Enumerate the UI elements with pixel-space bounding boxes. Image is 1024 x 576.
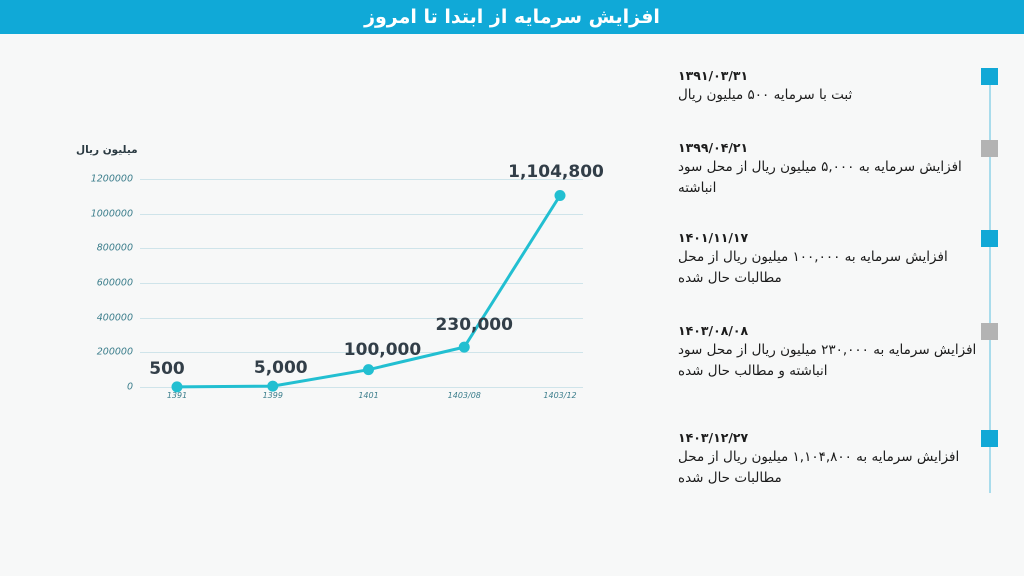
data-point-label: 100,000 xyxy=(344,340,421,360)
x-axis-tick-label: 1399 xyxy=(263,391,283,400)
timeline-marker-inactive-icon xyxy=(981,323,998,340)
timeline-entry-date: ۱۴۰۳/۰۸/۰۸ xyxy=(678,322,978,339)
y-axis-tick-label: 600000 xyxy=(97,278,133,289)
timeline-entry-description: افزایش سرمایه به ۱,۱۰۴,۸۰۰ میلیون ریال ا… xyxy=(678,447,978,489)
data-point-label: 500 xyxy=(149,359,185,379)
timeline-entry[interactable]: ۱۴۰۳/۱۲/۲۷افزایش سرمایه به ۱,۱۰۴,۸۰۰ میل… xyxy=(678,429,978,489)
y-axis-tick-label: 0 xyxy=(127,382,133,393)
data-point-marker[interactable] xyxy=(459,342,470,353)
data-point-marker[interactable] xyxy=(555,190,566,201)
timeline-marker-inactive-icon xyxy=(981,140,998,157)
y-axis-tick-label: 800000 xyxy=(97,243,133,254)
data-point-marker[interactable] xyxy=(363,364,374,375)
timeline-entry[interactable]: ۱۳۹۹/۰۴/۲۱افزایش سرمایه به ۵,۰۰۰ میلیون … xyxy=(678,139,978,199)
timeline-entry-date: ۱۳۹۱/۰۳/۳۱ xyxy=(678,67,978,84)
y-axis-tick-label: 1200000 xyxy=(91,174,133,185)
timeline-entry-description: افزایش سرمایه به ۵,۰۰۰ میلیون ریال از مح… xyxy=(678,157,978,199)
timeline-entry[interactable]: ۱۳۹۱/۰۳/۳۱ثبت با سرمایه ۵۰۰ میلیون ریال xyxy=(678,67,978,106)
chart-y-axis-title: میلیون ریال xyxy=(76,144,138,156)
data-point-label: 1,104,800 xyxy=(508,162,604,182)
data-point-label: 230,000 xyxy=(436,315,513,335)
timeline-marker-active-icon xyxy=(981,430,998,447)
x-axis-tick-label: 1403/12 xyxy=(543,391,576,400)
capital-increase-timeline: ۱۳۹۱/۰۳/۳۱ثبت با سرمایه ۵۰۰ میلیون ریال۱… xyxy=(620,34,1024,576)
timeline-marker-active-icon xyxy=(981,68,998,85)
timeline-entry-description: افزایش سرمایه به ۱۰۰,۰۰۰ میلیون ریال از … xyxy=(678,247,978,289)
timeline-marker-active-icon xyxy=(981,230,998,247)
x-axis-tick-label: 1403/08 xyxy=(448,391,481,400)
timeline-entry-date: ۱۴۰۳/۱۲/۲۷ xyxy=(678,429,978,446)
y-axis-tick-label: 400000 xyxy=(97,312,133,323)
timeline-entry-date: ۱۳۹۹/۰۴/۲۱ xyxy=(678,139,978,156)
data-point-marker[interactable] xyxy=(172,381,183,392)
chart-plot-area: 020000040000060000080000010000001200000 … xyxy=(140,179,583,387)
capital-growth-chart: میلیون ریال 0200000400000600000800000100… xyxy=(0,34,620,576)
timeline-entry-description: ثبت با سرمایه ۵۰۰ میلیون ریال xyxy=(678,85,978,106)
header-bar: افزایش سرمایه از ابتدا تا امروز xyxy=(0,0,1024,34)
timeline-entry-date: ۱۴۰۱/۱۱/۱۷ xyxy=(678,229,978,246)
timeline-entry[interactable]: ۱۴۰۱/۱۱/۱۷افزایش سرمایه به ۱۰۰,۰۰۰ میلیو… xyxy=(678,229,978,289)
y-axis-tick-label: 1000000 xyxy=(91,208,133,219)
x-axis-tick-label: 1401 xyxy=(358,391,378,400)
data-point-marker[interactable] xyxy=(267,381,278,392)
timeline-entry-description: افزایش سرمایه به ۲۳۰,۰۰۰ میلیون ریال از … xyxy=(678,340,978,382)
timeline-entry[interactable]: ۱۴۰۳/۰۸/۰۸افزایش سرمایه به ۲۳۰,۰۰۰ میلیو… xyxy=(678,322,978,382)
page-title: افزایش سرمایه از ابتدا تا امروز xyxy=(364,0,660,34)
data-point-label: 5,000 xyxy=(254,358,308,378)
y-axis-tick-label: 200000 xyxy=(97,347,133,358)
